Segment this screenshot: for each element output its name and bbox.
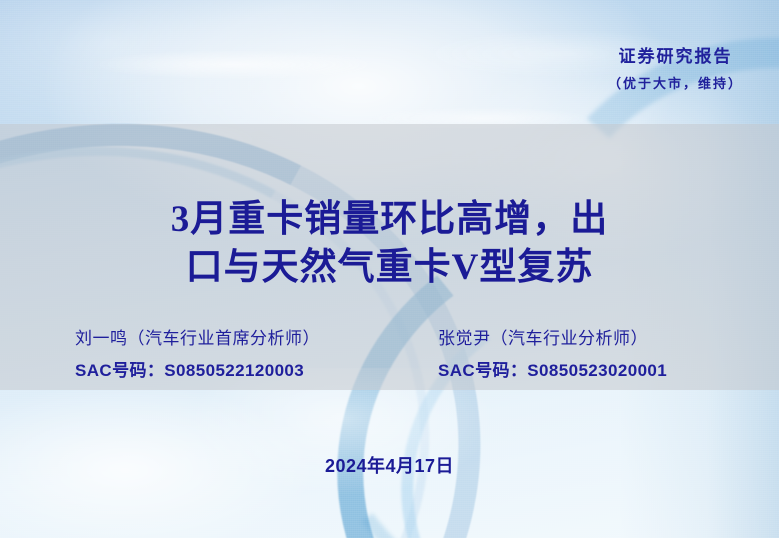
report-header: 证券研究报告 （优于大市，维持） bbox=[608, 44, 743, 93]
report-date: 2024年4月17日 bbox=[0, 452, 779, 478]
analyst-sac-number: SAC号码：S0850523020001 bbox=[438, 356, 758, 381]
analyst-entry: 刘一鸣（汽车行业首席分析师） SAC号码：S0850522120003 bbox=[75, 324, 438, 381]
analyst-entry: 张觉尹（汽车行业分析师） SAC号码：S0850523020001 bbox=[438, 324, 758, 381]
analyst-list: 刘一鸣（汽车行业首席分析师） SAC号码：S0850522120003 张觉尹（… bbox=[75, 324, 765, 381]
investment-rating-label: （优于大市，维持） bbox=[608, 74, 743, 94]
analyst-name: 张觉尹（汽车行业分析师） bbox=[438, 324, 758, 349]
analyst-name: 刘一鸣（汽车行业首席分析师） bbox=[75, 324, 438, 349]
report-type-label: 证券研究报告 bbox=[608, 44, 743, 70]
report-cover-slide: 证券研究报告 （优于大市，维持） 3月重卡销量环比高增，出 口与天然气重卡V型复… bbox=[0, 0, 779, 538]
analyst-sac-number: SAC号码：S0850522120003 bbox=[75, 356, 438, 381]
report-title: 3月重卡销量环比高增，出 口与天然气重卡V型复苏 bbox=[0, 196, 779, 292]
